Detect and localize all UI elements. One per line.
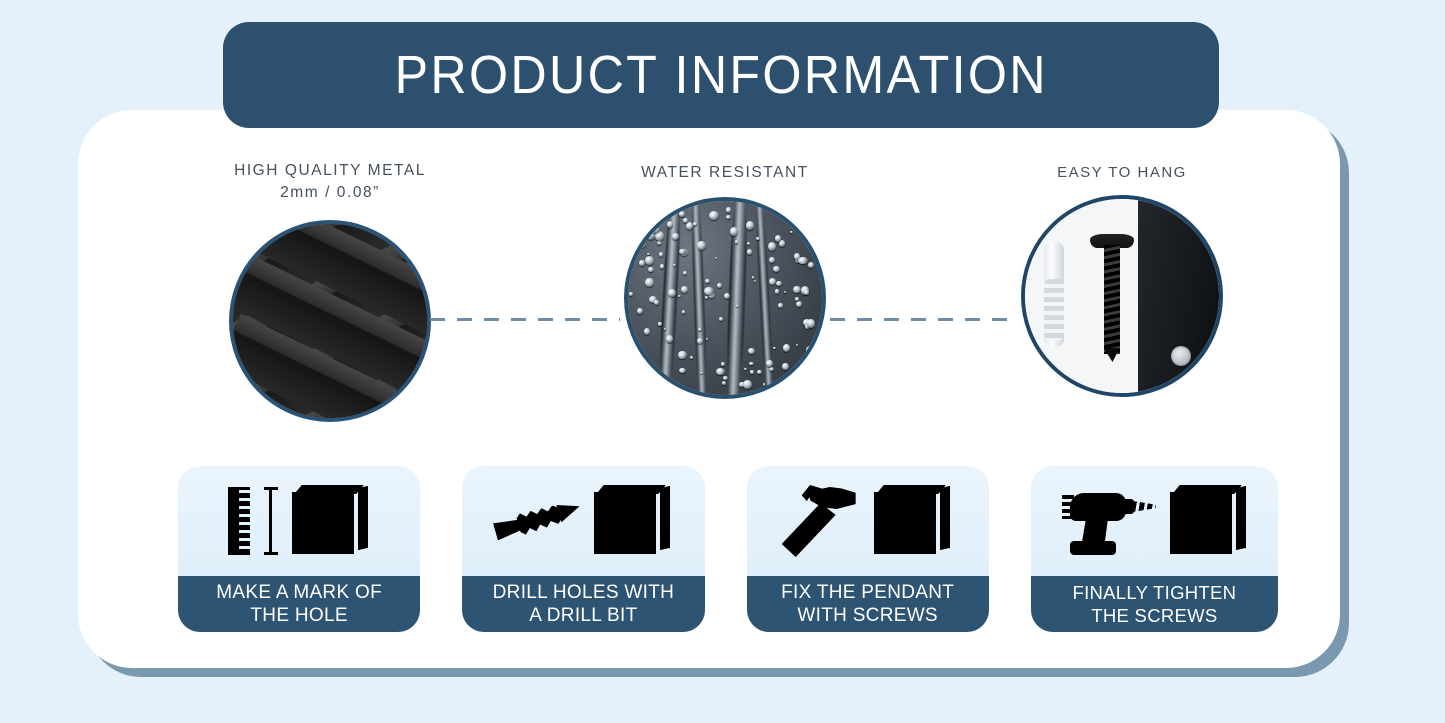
water-droplet bbox=[808, 211, 816, 218]
water-droplet bbox=[705, 279, 709, 283]
page-title: PRODUCT INFORMATION bbox=[394, 44, 1047, 106]
water-droplet bbox=[667, 383, 674, 389]
water-droplet bbox=[747, 249, 752, 255]
water-droplet bbox=[792, 216, 795, 218]
connector-dashed-line-2 bbox=[830, 318, 1018, 321]
water-droplet bbox=[647, 253, 650, 255]
step-artwork bbox=[1031, 466, 1278, 576]
water-droplet bbox=[803, 224, 812, 235]
water-droplet bbox=[778, 303, 783, 308]
step-card-make-a-mark[interactable]: MAKE A MARK OF THE HOLE bbox=[178, 466, 420, 632]
step-card-tighten-screws[interactable]: FINALLY TIGHTEN THE SCREWS bbox=[1031, 466, 1278, 632]
ruler-icon bbox=[228, 487, 250, 555]
water-droplet bbox=[715, 257, 717, 259]
feature-water-resistant: WATER RESISTANT bbox=[565, 110, 885, 399]
screw-mounting-image bbox=[1021, 195, 1223, 397]
step-artwork bbox=[747, 466, 989, 576]
step-label: MAKE A MARK OF THE HOLE bbox=[178, 576, 420, 632]
water-droplet bbox=[795, 297, 800, 301]
water-droplet bbox=[666, 335, 674, 343]
water-droplet bbox=[723, 376, 728, 380]
mounting-hole bbox=[1171, 346, 1191, 366]
water-droplet bbox=[730, 227, 738, 236]
water-droplet bbox=[779, 240, 785, 246]
step-artwork bbox=[178, 466, 420, 576]
water-droplet bbox=[679, 249, 686, 255]
step-card-fix-pendant[interactable]: FIX THE PENDANT WITH SCREWS bbox=[747, 466, 989, 632]
water-droplet bbox=[736, 305, 739, 308]
water-droplet bbox=[775, 289, 780, 293]
feature-label: WATER RESISTANT bbox=[641, 162, 809, 184]
feature-label: HIGH QUALITY METAL 2mm / 0.08” bbox=[234, 160, 426, 204]
pendant-box-icon bbox=[1170, 485, 1248, 557]
hammer-icon bbox=[784, 485, 860, 557]
water-droplet bbox=[752, 276, 754, 279]
water-droplet bbox=[766, 360, 773, 367]
screw-icon bbox=[1099, 234, 1125, 362]
water-droplet bbox=[658, 322, 661, 325]
water-droplet bbox=[704, 287, 713, 295]
water-droplet bbox=[678, 351, 686, 360]
water-droplet bbox=[644, 328, 650, 335]
water-droplet bbox=[743, 380, 752, 389]
feature-label: EASY TO HANG bbox=[1057, 162, 1187, 184]
pendant-box-icon bbox=[874, 485, 952, 557]
product-information-infographic: PRODUCT INFORMATION HIGH QUALITY METAL 2… bbox=[0, 0, 1445, 723]
water-droplet bbox=[693, 222, 697, 225]
water-droplet bbox=[651, 225, 659, 233]
water-droplet bbox=[782, 379, 790, 386]
measure-bar-icon bbox=[264, 487, 278, 555]
step-label: FINALLY TIGHTEN THE SCREWS bbox=[1031, 576, 1278, 632]
water-droplet bbox=[645, 278, 654, 287]
feature-high-quality-metal: HIGH QUALITY METAL 2mm / 0.08” bbox=[170, 110, 490, 422]
water-droplet bbox=[769, 257, 775, 263]
water-droplet bbox=[726, 215, 731, 219]
water-droplets-image bbox=[624, 197, 826, 399]
water-droplet bbox=[648, 267, 654, 273]
step-label: DRILL HOLES WITH A DRILL BIT bbox=[462, 576, 704, 632]
water-droplet bbox=[726, 207, 732, 213]
water-droplet bbox=[716, 368, 725, 375]
water-droplet bbox=[654, 300, 659, 305]
title-banner: PRODUCT INFORMATION bbox=[223, 22, 1219, 128]
water-droplet bbox=[735, 240, 738, 243]
water-droplet bbox=[776, 281, 783, 286]
water-droplet bbox=[637, 308, 643, 314]
water-droplet bbox=[769, 278, 776, 285]
water-droplet bbox=[721, 362, 725, 366]
water-droplet bbox=[633, 355, 641, 361]
feature-highlights: HIGH QUALITY METAL 2mm / 0.08” WATER RES… bbox=[78, 110, 1340, 440]
water-droplet bbox=[706, 338, 708, 340]
water-droplet bbox=[754, 280, 756, 282]
water-droplet bbox=[806, 346, 814, 354]
water-droplet bbox=[750, 370, 754, 373]
water-droplet bbox=[660, 264, 664, 269]
water-droplet bbox=[683, 218, 688, 223]
water-droplet bbox=[807, 319, 815, 327]
water-droplet bbox=[698, 328, 702, 331]
water-droplet bbox=[679, 211, 685, 216]
water-droplet bbox=[748, 348, 754, 354]
water-droplet bbox=[697, 338, 703, 344]
water-droplet bbox=[798, 257, 808, 264]
water-droplet bbox=[690, 356, 693, 359]
water-droplet bbox=[793, 286, 800, 293]
step-card-drill-holes[interactable]: DRILL HOLES WITH A DRILL BIT bbox=[462, 466, 704, 632]
drill-bit-icon bbox=[488, 482, 586, 560]
water-droplet bbox=[804, 290, 809, 296]
wall-anchor-icon bbox=[1044, 242, 1064, 347]
water-droplet bbox=[709, 211, 719, 220]
water-droplet bbox=[786, 203, 792, 208]
power-drill-icon bbox=[1060, 485, 1156, 557]
water-droplet bbox=[632, 222, 639, 229]
water-droplet bbox=[746, 221, 754, 230]
water-droplet bbox=[773, 266, 780, 272]
pendant-box-icon bbox=[292, 485, 370, 557]
pendant-panel bbox=[1138, 199, 1219, 393]
water-droplet bbox=[633, 203, 639, 209]
connector-dashed-line-1 bbox=[430, 318, 620, 321]
pendant-box-icon bbox=[594, 485, 672, 557]
feature-easy-to-hang: EASY TO HANG bbox=[962, 110, 1282, 397]
installation-steps: MAKE A MARK OF THE HOLE DRILL HOLES WITH… bbox=[178, 466, 1278, 632]
water-droplet bbox=[667, 221, 673, 228]
step-label: FIX THE PENDANT WITH SCREWS bbox=[747, 576, 989, 632]
water-droplet bbox=[697, 241, 705, 250]
water-droplet bbox=[747, 242, 750, 245]
water-droplet bbox=[686, 222, 693, 229]
step-artwork bbox=[462, 466, 704, 576]
metal-sheets-image bbox=[229, 220, 431, 422]
